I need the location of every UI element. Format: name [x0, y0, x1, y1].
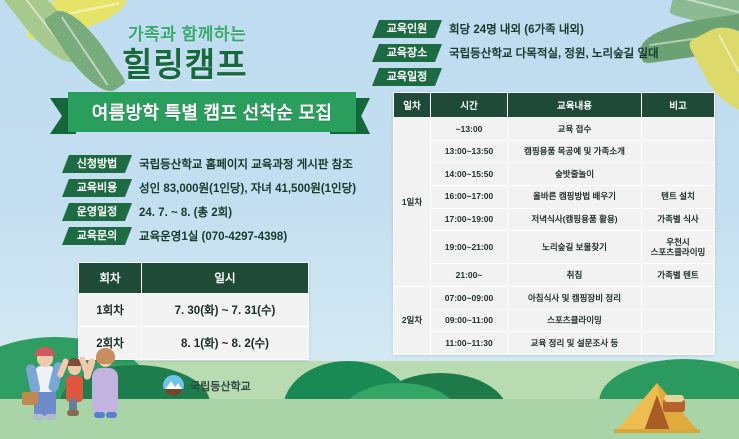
schedule-cell-content: 스포츠클라이밍 — [508, 309, 642, 332]
father-shoe-r — [45, 414, 56, 420]
ribbon-label: 여름방학 특별 캠프 선착순 모집 — [92, 99, 332, 125]
schedule-cell-time: 19:00~21:00 — [431, 231, 508, 264]
tag-location: 교육장소 — [372, 44, 442, 62]
schedule-cell-note — [642, 287, 715, 310]
ribbon-body: 여름방학 특별 캠프 선착순 모집 — [68, 92, 356, 132]
info-row-capacity: 교육인원 회당 24명 내외 (6가족 내외) — [372, 20, 659, 38]
child-shoe — [67, 410, 79, 416]
left-info-list: 신청방법 국립등산학교 홈페이지 교육과정 게시판 참조 교육비용 성인 83,… — [62, 155, 356, 251]
schedule-cell-time: 11:00~11:30 — [431, 332, 508, 355]
tent-illustration — [614, 381, 700, 433]
schedule-table: 일차 시간 교육내용 비고 1일차~13:00교육 접수13:00~13:50캠… — [393, 92, 715, 355]
table-row: 11:00~11:30교육 정리 및 설문조사 등 — [394, 332, 715, 355]
info-row-schedule: 교육일정 — [372, 68, 659, 86]
tent-icon — [614, 381, 700, 433]
value-apply-method: 국립등산학교 홈페이지 교육과정 게시판 참조 — [139, 156, 353, 172]
tag-capacity: 교육인원 — [372, 20, 442, 38]
schedule-cell-content: 저녁식사(캠핑용품 활용) — [508, 208, 642, 231]
schedule-cell-time: 16:00~17:00 — [431, 185, 508, 208]
schedule-cell-content: 취침 — [508, 264, 642, 287]
schedule-header-row: 일차 시간 교육내용 비고 — [394, 93, 715, 118]
schedule-cell-content: 캠핑용품 목공예 및 가족소개 — [508, 140, 642, 163]
session-date-2: 8. 1(화) ~ 8. 2(수) — [142, 327, 309, 360]
schedule-header-day: 일차 — [394, 93, 431, 118]
session-date-1: 7. 30(화) ~ 7. 31(수) — [142, 294, 309, 327]
tag-cost: 교육비용 — [62, 179, 132, 197]
session-round-1: 1회차 — [79, 294, 142, 327]
schedule-cell-content: 숲밧줄놀이 — [508, 163, 642, 186]
schedule-cell-time: ~13:00 — [431, 118, 508, 141]
table-row: 21:00~취침가족별 텐트 — [394, 264, 715, 287]
schedule-cell-time: 13:00~13:50 — [431, 140, 508, 163]
organization-name: 국립등산학교 — [190, 378, 251, 394]
schedule-cell-note: 가족별 식사 — [642, 208, 715, 231]
mother-shoe-l — [94, 412, 105, 418]
schedule-cell-note: 가족별 텐트 — [642, 264, 715, 287]
info-row-apply-method: 신청방법 국립등산학교 홈페이지 교육과정 게시판 참조 — [62, 155, 356, 173]
schedule-body: 1일차~13:00교육 접수13:00~13:50캠핑용품 목공예 및 가족소개… — [394, 118, 715, 355]
schedule-cell-content: 아침식사 및 캠핑장비 정리 — [508, 287, 642, 310]
schedule-cell-content: 노리숲길 보물찾기 — [508, 231, 642, 264]
schedule-header-content: 교육내용 — [508, 93, 642, 118]
schedule-day-label: 2일차 — [394, 287, 431, 355]
schedule-cell-time: 17:00~19:00 — [431, 208, 508, 231]
schedule-cell-note — [642, 118, 715, 141]
table-row: 17:00~19:00저녁식사(캠핑용품 활용)가족별 식사 — [394, 208, 715, 231]
table-row: 09:00~11:00스포츠클라이밍 — [394, 309, 715, 332]
schedule-cell-note: 텐트 설치 — [642, 185, 715, 208]
schedule-cell-note — [642, 163, 715, 186]
schedule-cell-time: 07:00~09:00 — [431, 287, 508, 310]
session-table-header-row: 회차 일시 — [79, 263, 309, 294]
table-row: 13:00~13:50캠핑용품 목공예 및 가족소개 — [394, 140, 715, 163]
schedule-cell-note — [642, 332, 715, 355]
mother-dress — [92, 368, 118, 412]
schedule-cell-content: 올바른 캠핑방법 배우기 — [508, 185, 642, 208]
schedule-cell-note — [642, 140, 715, 163]
poster-canvas: 가족과 함께하는 힐링캠프 여름방학 특별 캠프 선착순 모집 신청방법 국립등… — [0, 0, 739, 439]
info-row-cost: 교육비용 성인 83,000원(1인당), 자녀 41,500원(1인당) — [62, 179, 356, 197]
tag-operation-period: 운영일정 — [62, 203, 132, 221]
table-row: 16:00~17:00올바른 캠핑방법 배우기텐트 설치 — [394, 185, 715, 208]
table-row: 19:00~21:00노리숲길 보물찾기우천시스포츠클라이밍 — [394, 231, 715, 264]
father-shoe-l — [33, 414, 44, 420]
poster-title: 힐링캠프 — [122, 38, 247, 86]
tag-apply-method: 신청방법 — [62, 155, 132, 173]
organization-logo: 국립등산학교 — [163, 375, 251, 396]
schedule-cell-time: 21:00~ — [431, 264, 508, 287]
tag-schedule: 교육일정 — [372, 68, 442, 86]
info-row-contact: 교육문의 교육운영1실 (070-4297-4398) — [62, 227, 356, 245]
value-cost: 성인 83,000원(1인당), 자녀 41,500원(1인당) — [139, 180, 356, 196]
schedule-day-label: 1일차 — [394, 118, 431, 287]
tag-contact: 교육문의 — [62, 227, 132, 245]
table-row: 1회차 7. 30(화) ~ 7. 31(수) — [79, 294, 309, 327]
table-row: 14:00~15:50숲밧줄놀이 — [394, 163, 715, 186]
schedule-cell-content: 교육 정리 및 설문조사 등 — [508, 332, 642, 355]
schedule-cell-note: 우천시스포츠클라이밍 — [642, 231, 715, 264]
session-header-date: 일시 — [142, 263, 309, 294]
table-row: 1일차~13:00교육 접수 — [394, 118, 715, 141]
schedule-cell-time: 14:00~15:50 — [431, 163, 508, 186]
session-header-round: 회차 — [79, 263, 142, 294]
value-capacity: 회당 24명 내외 (6가족 내외) — [449, 21, 584, 37]
right-info-list: 교육인원 회당 24명 내외 (6가족 내외) 교육장소 국립등산학교 다목적실… — [372, 20, 659, 92]
value-contact: 교육운영1실 (070-4297-4398) — [139, 228, 287, 244]
value-operation-period: 24. 7. ~ 8. (총 2회) — [139, 204, 232, 220]
info-row-operation-period: 운영일정 24. 7. ~ 8. (총 2회) — [62, 203, 356, 221]
family-illustration — [14, 336, 132, 434]
mother-shoe-r — [106, 412, 117, 418]
schedule-cell-note — [642, 309, 715, 332]
value-location: 국립등산학교 다목적실, 정원, 노리숲길 일대 — [449, 45, 659, 61]
schedule-cell-time: 09:00~11:00 — [431, 309, 508, 332]
picnic-basket — [22, 392, 38, 405]
schedule-header-time: 시간 — [431, 93, 508, 118]
schedule-header-note: 비고 — [642, 93, 715, 118]
info-row-location: 교육장소 국립등산학교 다목적실, 정원, 노리숲길 일대 — [372, 44, 659, 62]
schedule-cell-content: 교육 접수 — [508, 118, 642, 141]
mountain-logo-icon — [163, 375, 184, 396]
table-row: 2일차07:00~09:00아침식사 및 캠핑장비 정리 — [394, 287, 715, 310]
father-cap — [35, 347, 55, 356]
mother-hair — [96, 348, 115, 364]
